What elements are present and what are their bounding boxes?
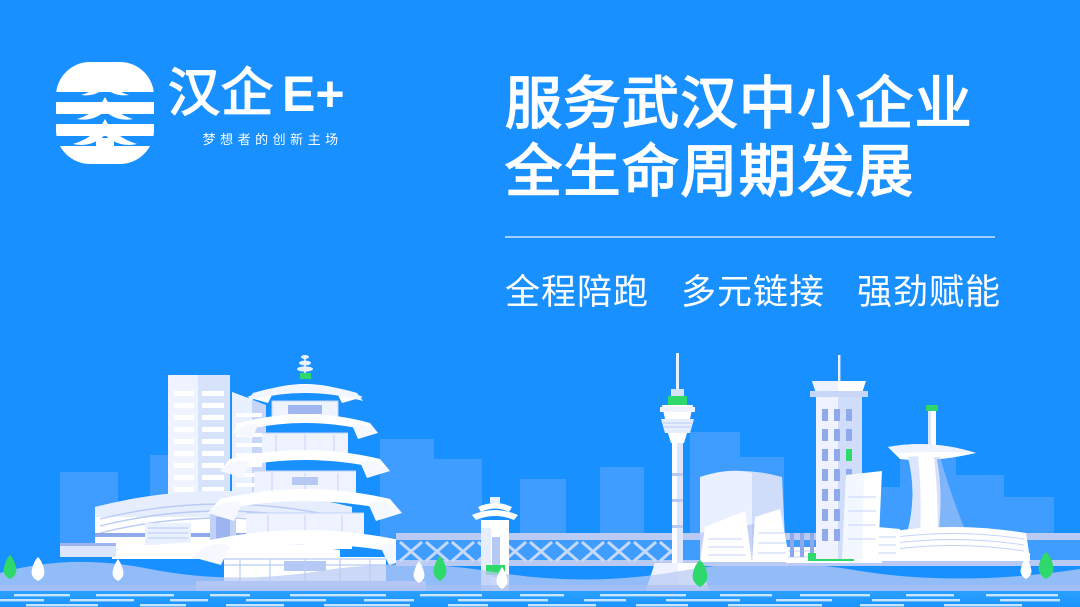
promo-banner: 汉企 E+ 梦想者的创新主场 服务武汉中小企业 全生命周期发展 全程陪跑 多元链…	[0, 0, 1080, 607]
logo-tagline: 梦想者的创新主场	[168, 129, 345, 148]
brand-logo: 汉企 E+ 梦想者的创新主场	[56, 62, 345, 164]
logo-name-suffix: E+	[282, 69, 345, 119]
yangtze-river-water	[0, 591, 1080, 607]
headline-block: 服务武汉中小企业 全生命周期发展 全程陪跑 多元链接 强劲赋能	[505, 70, 1001, 315]
subtitle-item-3: 强劲赋能	[857, 264, 1001, 315]
pagoda-logo-icon	[56, 62, 154, 164]
headline-line-1: 服务武汉中小企业	[505, 70, 1001, 138]
subtitle-item-2: 多元链接	[681, 264, 825, 315]
headline-line-2: 全生命周期发展	[505, 138, 1001, 206]
headline-divider	[505, 236, 995, 238]
subtitle-row: 全程陪跑 多元链接 强劲赋能	[505, 264, 1001, 315]
logo-name-cn: 汉企	[168, 68, 274, 120]
subtitle-item-1: 全程陪跑	[505, 264, 649, 315]
wuhan-skyline-illustration	[0, 347, 1080, 607]
riverbank-strip	[0, 562, 1080, 593]
